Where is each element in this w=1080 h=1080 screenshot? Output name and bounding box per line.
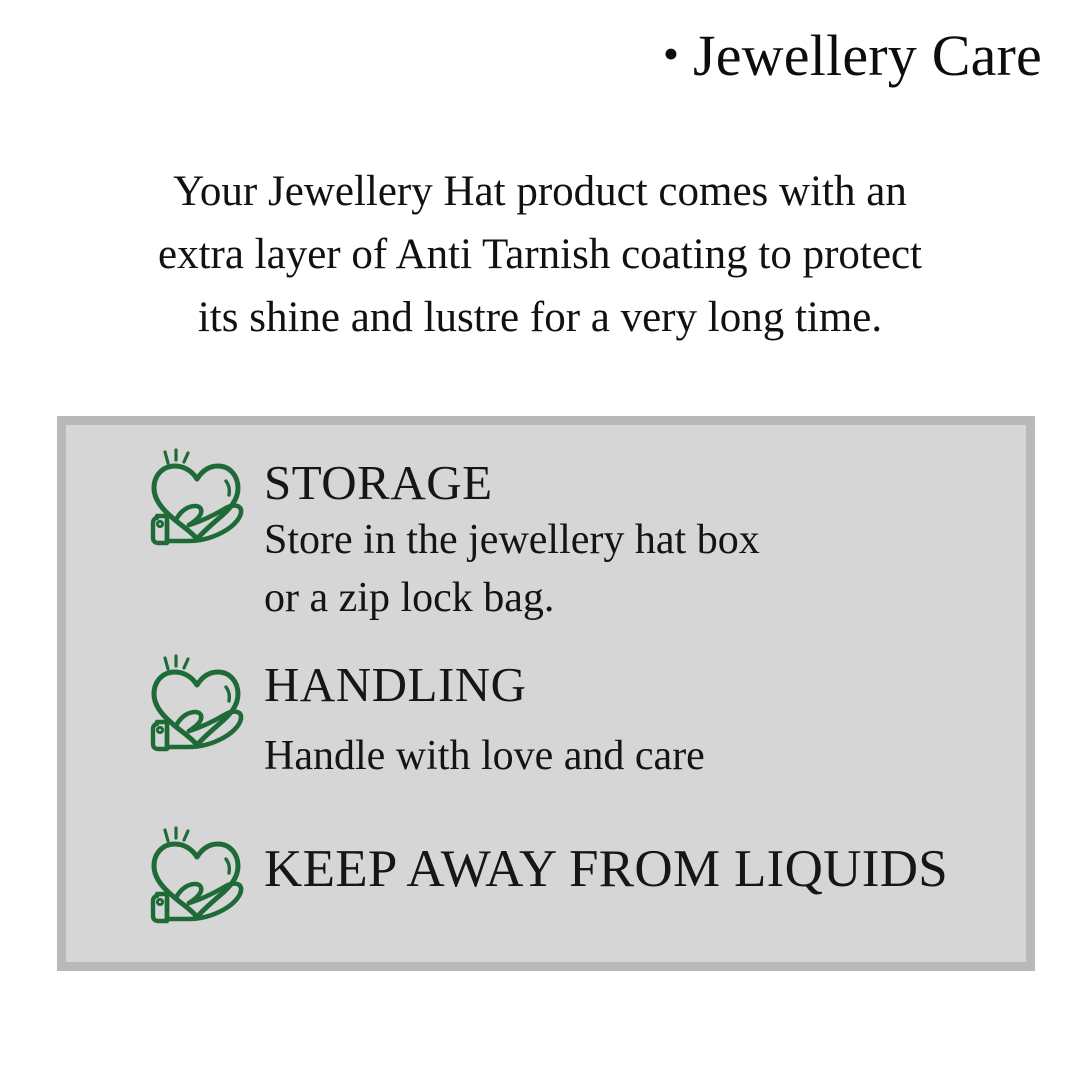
care-item-description: Store in the jewellery hat box or a zip … — [264, 511, 760, 627]
heart-in-hand-icon — [144, 825, 248, 925]
care-item-body: HANDLING Handle with love and care — [264, 653, 705, 785]
intro-paragraph: Your Jewellery Hat product comes with an… — [0, 160, 1080, 349]
bullet-icon: • — [663, 31, 679, 77]
care-item-heading: KEEP AWAY FROM LIQUIDS — [264, 841, 948, 897]
heart-in-hand-icon — [144, 447, 248, 547]
jewellery-care-card: • Jewellery Care Your Jewellery Hat prod… — [0, 0, 1080, 1080]
care-instructions-list: STORAGE Store in the jewellery hat box o… — [66, 425, 1026, 962]
care-item-body: STORAGE Store in the jewellery hat box o… — [264, 447, 760, 627]
care-instructions-panel: STORAGE Store in the jewellery hat box o… — [57, 416, 1035, 971]
care-item-description-line-1: Handle with love and care — [264, 727, 705, 785]
care-item-description: Handle with love and care — [264, 727, 705, 785]
care-item-storage: STORAGE Store in the jewellery hat box o… — [144, 447, 760, 627]
care-item-description-line-1: Store in the jewellery hat box — [264, 511, 760, 569]
page-title: • Jewellery Care — [663, 26, 1042, 87]
care-item-body: KEEP AWAY FROM LIQUIDS — [264, 825, 948, 897]
care-item-heading: STORAGE — [264, 455, 760, 511]
care-item-heading: HANDLING — [264, 657, 705, 713]
intro-line-2: extra layer of Anti Tarnish coating to p… — [0, 223, 1080, 286]
heart-in-hand-icon — [144, 653, 248, 753]
care-item-liquids: KEEP AWAY FROM LIQUIDS — [144, 825, 948, 925]
page-title-text: Jewellery Care — [693, 26, 1042, 87]
intro-line-1: Your Jewellery Hat product comes with an — [0, 160, 1080, 223]
care-item-description-line-2: or a zip lock bag. — [264, 569, 760, 627]
care-item-handling: HANDLING Handle with love and care — [144, 653, 705, 785]
intro-line-3: its shine and lustre for a very long tim… — [0, 286, 1080, 349]
